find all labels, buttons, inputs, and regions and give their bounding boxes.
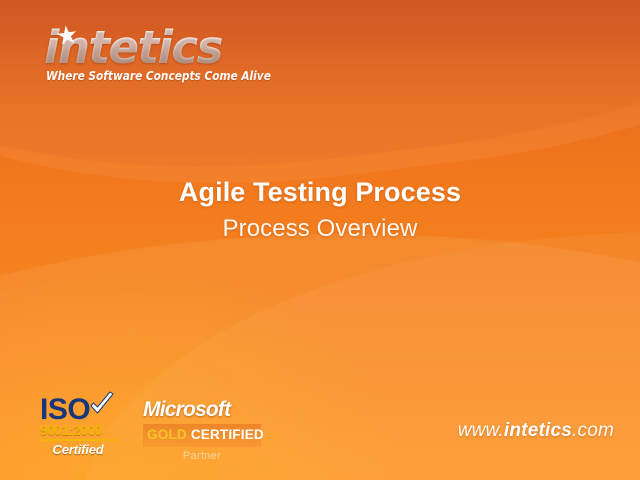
url-tld: .com xyxy=(572,420,614,441)
microsoft-level: GOLD xyxy=(147,427,187,442)
microsoft-gold-certified-badge: Microsoft GOLDCERTIFIED Partner xyxy=(143,398,261,462)
intetics-logo: intetics Where Software Concepts Come Al… xyxy=(44,24,294,83)
microsoft-brand: Microsoft xyxy=(143,398,261,422)
page-title: Agile Testing Process xyxy=(0,176,640,208)
microsoft-certification: CERTIFIED xyxy=(191,427,264,442)
title-block: Agile Testing Process Process Overview xyxy=(0,176,640,244)
iso-letters: ISO xyxy=(40,396,90,424)
iso-status: Certified xyxy=(40,442,116,457)
url-domain-name: intetics xyxy=(504,420,572,441)
iso-certification-badge: ISO 9001:2000 Certified xyxy=(40,396,122,454)
microsoft-certification-bar: GOLDCERTIFIED xyxy=(143,424,261,447)
star-icon xyxy=(56,25,78,47)
presentation-slide: intetics Where Software Concepts Come Al… xyxy=(0,0,640,480)
logo-tagline: Where Software Concepts Come Alive xyxy=(46,68,279,83)
iso-badge-top: ISO xyxy=(40,396,122,423)
page-subtitle: Process Overview xyxy=(0,214,640,244)
logo-wordmark: intetics xyxy=(44,24,294,72)
microsoft-program: Partner xyxy=(143,450,261,462)
website-url[interactable]: www.intetics.com xyxy=(458,420,614,442)
url-prefix: www. xyxy=(458,420,504,441)
checkmark-icon xyxy=(86,391,116,421)
iso-divider xyxy=(40,439,116,441)
